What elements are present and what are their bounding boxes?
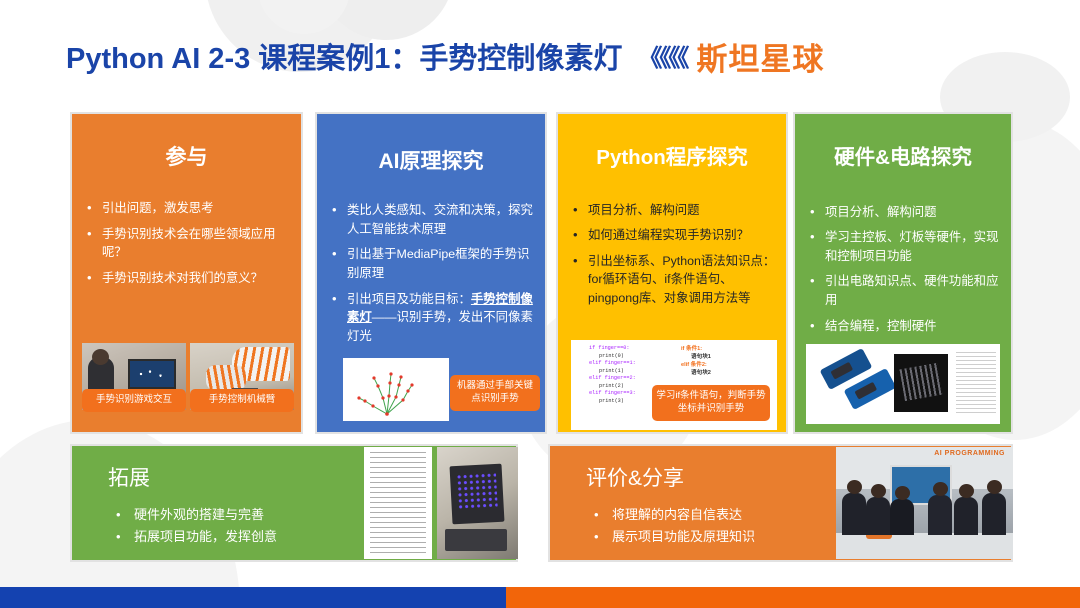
- code-line: elif 条件2:: [681, 361, 711, 369]
- code-line: print(0): [589, 353, 636, 361]
- list-item: 引出问题，激发思考: [84, 199, 291, 218]
- chevrons-left-icon: 《《《《: [638, 47, 686, 71]
- classroom-person: [928, 495, 952, 535]
- panel-ai-principle-title: AI原理探究: [317, 150, 545, 173]
- code-line: elif finger==3:: [589, 390, 636, 398]
- list-item: 引出电路知识点、硬件功能和应用: [807, 272, 1001, 309]
- code-line: print(2): [589, 383, 636, 391]
- footer-bar: [0, 587, 1080, 608]
- caption-code-snippet: 学习if条件语句，判断手势坐标并识别手势: [652, 385, 770, 421]
- code-line: if finger==0:: [589, 345, 636, 353]
- page-title-latin: Python AI 2-3: [66, 43, 258, 75]
- brand-logo: 《《《《 斯坦星球: [638, 44, 824, 75]
- figure-long-code-listing: [364, 447, 432, 559]
- classroom-person: [890, 499, 914, 535]
- footer-bar-right: [506, 587, 1080, 608]
- photo-screen-shape: [128, 359, 176, 389]
- caption-hand-landmarks: 机器通过手部关键点识别手势: [450, 375, 540, 411]
- code-line: elif finger==2:: [589, 375, 636, 383]
- photo-classroom: AI PROGRAMMING: [836, 447, 1013, 559]
- hand-landmark-graphic: [343, 358, 449, 421]
- list-item: 手势识别技术会在哪些领域应用呢？: [84, 225, 291, 262]
- hardware-text-block: [956, 352, 996, 416]
- list-item: 引出基于MediaPipe框架的手势识别原理: [329, 245, 535, 282]
- panel-python-program-bullets: 项目分析、解构问题 如何通过编程实现手势识别？ 引出坐标系、Python语法知识…: [558, 201, 786, 308]
- slide-header: Python AI 2-3 课程案例1：手势控制像素灯 《《《《 斯坦星球: [0, 28, 1080, 90]
- code-line: print(1): [589, 368, 636, 376]
- figure-hand-landmarks: [343, 358, 449, 421]
- classroom-person: [982, 493, 1006, 535]
- list-item: 引出项目及功能目标：手势控制像素灯——识别手势，发出不同像素灯光: [329, 290, 535, 346]
- photo-pixel-light-device: [437, 447, 518, 559]
- device-display-shape: [450, 464, 505, 525]
- list-item: 项目分析、解构问题: [807, 203, 1001, 222]
- panel-python-program-title: Python程序探究: [558, 147, 786, 170]
- photo-head-shape: [92, 349, 109, 365]
- panel-engage-bullets: 引出问题，激发思考 手势识别技术会在哪些领域应用呢？ 手势识别技术对我们的意义？: [72, 199, 301, 287]
- code-line: print(3): [589, 398, 636, 406]
- caption-gesture-game: 手势识别游戏交互: [82, 389, 186, 412]
- led-matrix-grid: [900, 363, 943, 401]
- page-title-cn: 课程案例1：手势控制像素灯: [258, 43, 622, 75]
- list-item: 如何通过编程实现手势识别？: [570, 226, 776, 245]
- list-item: 类比人类感知、交流和决策，探究人工智能技术原理: [329, 201, 535, 238]
- code-block-right: if 条件1: 语句块1 elif 条件2: 语句块2: [681, 345, 711, 377]
- footer-bar-left: [0, 587, 506, 608]
- list-item-prefix: 引出项目及功能目标：: [347, 292, 471, 306]
- code-line: 语句块1: [681, 353, 711, 361]
- code-listing-lines: [370, 452, 426, 554]
- list-item: 项目分析、解构问题: [570, 201, 776, 220]
- classroom-table-shape: [836, 533, 1013, 559]
- figure-hardware-boards: [806, 344, 1000, 424]
- code-line: if 条件1:: [681, 345, 711, 353]
- page-title: Python AI 2-3 课程案例1：手势控制像素灯: [66, 45, 622, 74]
- caption-robot-arm: 手势控制机械臂: [190, 389, 294, 412]
- slide-canvas: Python AI 2-3 课程案例1：手势控制像素灯 《《《《 斯坦星球 参与…: [0, 0, 1080, 608]
- panel-ai-principle-bullets: 类比人类感知、交流和决策，探究人工智能技术原理 引出基于MediaPipe框架的…: [317, 201, 545, 345]
- list-item: 结合编程，控制硬件: [807, 317, 1001, 336]
- list-item: 引出坐标系、Python语法知识点：for循环语句、if条件语句、pingpon…: [570, 252, 776, 308]
- brand-name: 斯坦星球: [696, 44, 824, 75]
- list-item: 学习主控板、灯板等硬件，实现和控制项目功能: [807, 228, 1001, 265]
- panel-engage-title: 参与: [72, 146, 301, 169]
- classroom-banner-label: AI PROGRAMMING: [934, 450, 1005, 457]
- code-line: elif finger==1:: [589, 360, 636, 368]
- list-item: 手势识别技术对我们的意义？: [84, 269, 291, 288]
- list-item-suffix: ——识别手势，发出不同像素灯光: [347, 310, 533, 343]
- device-base-shape: [445, 529, 507, 551]
- code-line: 语句块2: [681, 369, 711, 377]
- panel-hardware-circuit-title: 硬件&电路探究: [795, 147, 1011, 170]
- panel-hardware-circuit-bullets: 项目分析、解构问题 学习主控板、灯板等硬件，实现和控制项目功能 引出电路知识点、…: [795, 203, 1011, 336]
- device-pixel-dots: [456, 472, 498, 510]
- code-block-left: if finger==0: print(0) elif finger==1: p…: [589, 345, 636, 405]
- led-matrix-photo: [894, 354, 948, 412]
- classroom-person: [842, 493, 866, 535]
- classroom-person: [954, 497, 978, 535]
- classroom-person: [866, 497, 890, 535]
